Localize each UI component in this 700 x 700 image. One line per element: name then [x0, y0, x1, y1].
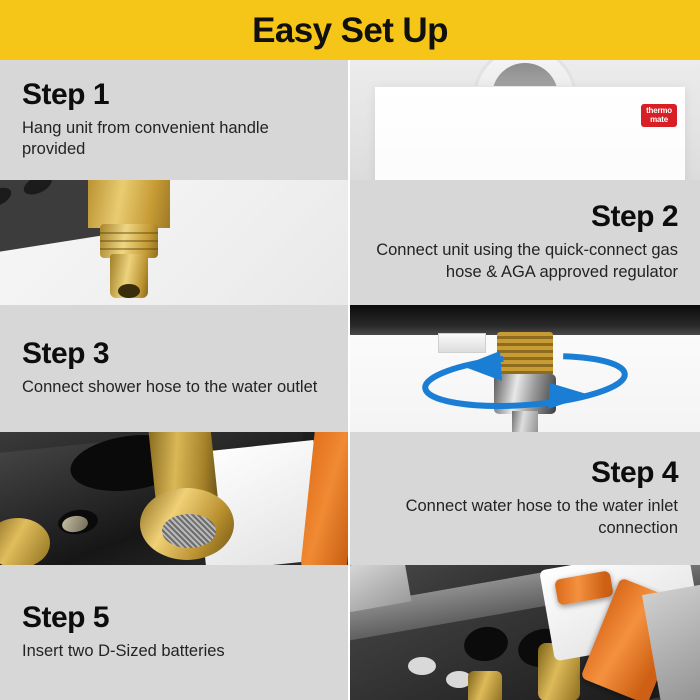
heater-body-icon: [375, 86, 685, 180]
page-header: Easy Set Up: [0, 0, 700, 60]
step-5-description: Insert two D-Sized batteries: [22, 641, 225, 663]
step-4-description: Connect water hose to the water inlet co…: [372, 496, 678, 540]
step-5-photo: [350, 565, 700, 700]
step-1-title: Step 1: [22, 79, 109, 111]
step-3-text-panel: Step 3 Connect shower hose to the water …: [0, 305, 348, 432]
fitting-bore-icon: [118, 284, 140, 298]
step-3-description: Connect shower hose to the water outlet: [22, 377, 317, 399]
step-2-text-panel: Step 2 Connect unit using the quick-conn…: [350, 180, 700, 305]
rotation-arrow-icon: [350, 305, 700, 432]
knob-1-icon: [408, 657, 436, 675]
gas-fitting-collar-icon: [100, 224, 158, 258]
step-3-title: Step 3: [22, 338, 109, 370]
step-2-photo: [0, 180, 348, 305]
thermomate-logo: thermo mate: [641, 104, 677, 127]
step-1-text-panel: Step 1 Hang unit from convenient handle …: [0, 60, 348, 180]
step-2-description: Connect unit using the quick-connect gas…: [372, 240, 678, 284]
step-1-photo: thermo mate: [350, 60, 700, 180]
inlet-mesh-filter-icon: [162, 514, 216, 548]
step-4-photo: [0, 432, 348, 565]
bracket-hole-1-icon: [0, 184, 14, 211]
step-5-title: Step 5: [22, 602, 109, 634]
step-2-title: Step 2: [591, 201, 678, 233]
step-3-photo: [350, 305, 700, 432]
brass-port-1-icon: [468, 671, 502, 700]
step-4-title: Step 4: [591, 457, 678, 489]
gas-fitting-hex-icon: [88, 180, 170, 228]
step-4-text-panel: Step 4 Connect water hose to the water i…: [350, 432, 700, 565]
step-1-description: Hang unit from convenient handle provide…: [22, 118, 326, 162]
bracket-hole-2-icon: [21, 180, 55, 198]
step-5-text-panel: Step 5 Insert two D-Sized batteries: [0, 565, 348, 700]
infographic-page: Easy Set Up Step 1 Hang unit from conven…: [0, 0, 700, 700]
steps-grid: Step 1 Hang unit from convenient handle …: [0, 60, 700, 700]
page-title: Easy Set Up: [252, 13, 448, 48]
logo-line-2: mate: [650, 115, 668, 124]
